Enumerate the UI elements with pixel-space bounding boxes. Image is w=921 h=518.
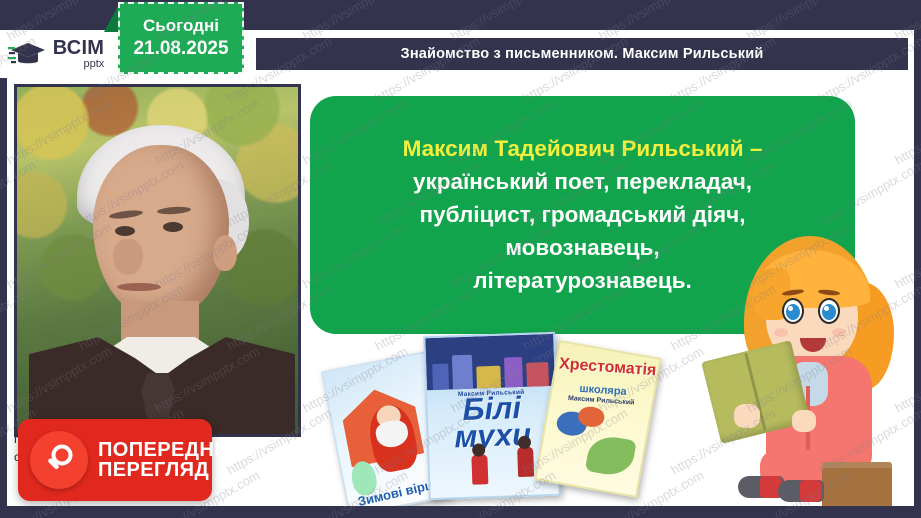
girl-cheek-right xyxy=(832,328,846,337)
slide-frame-right xyxy=(914,0,921,518)
today-label: Сьогодні xyxy=(143,16,219,36)
book-b-title: Білі мухи xyxy=(427,394,557,452)
site-logo[interactable]: ВСІМ pptx xyxy=(0,30,112,78)
description-line-2: український поет, перекладач, xyxy=(413,168,752,196)
preview-badge[interactable]: ПОПЕРЕДНІЙ ПЕРЕГЛЯД xyxy=(18,419,212,501)
book-covers-group: Зимові вірші Максим Рильський Білі мухи … xyxy=(330,332,660,518)
book-b-cityscape xyxy=(425,334,555,390)
logo-wordmark: ВСІМ pptx xyxy=(53,38,105,70)
today-date: 21.08.2025 xyxy=(133,38,228,60)
book-b-child-right xyxy=(517,447,534,478)
preview-badge-line-1: ПОПЕРЕДНІЙ xyxy=(98,440,235,460)
portrait-head xyxy=(93,145,229,317)
preview-badge-text: ПОПЕРЕДНІЙ ПЕРЕГЛЯД xyxy=(98,440,235,481)
slide-canvas: Максим Тадейович Рильський – український… xyxy=(0,0,921,518)
page-title: Знайомство з письменником. Максим Рильсь… xyxy=(401,46,764,62)
book-c-title: Хрестоматія xyxy=(559,357,656,378)
logo-sub-text: pptx xyxy=(53,59,105,70)
today-date-tag: Сьогодні 21.08.2025 xyxy=(118,2,244,74)
portrait-mouth xyxy=(117,283,161,291)
slide-title-bar: Знайомство з письменником. Максим Рильсь… xyxy=(256,38,908,70)
book-c-leaf xyxy=(585,433,637,478)
portrait-eye-left xyxy=(115,226,135,236)
girl-hand-left xyxy=(734,404,760,428)
graduation-cap-icon xyxy=(8,40,48,68)
girl-cheek-left xyxy=(774,328,788,337)
magnifier-icon xyxy=(30,431,88,489)
girl-shoe-right xyxy=(778,480,824,502)
girl-hand-right xyxy=(792,410,816,432)
description-line-5: літературознавець. xyxy=(473,267,692,295)
slide-frame-bottom xyxy=(0,506,921,518)
logo-main-text: ВСІМ xyxy=(53,38,105,58)
preview-badge-line-2: ПЕРЕГЛЯД xyxy=(98,460,235,480)
portrait-nose xyxy=(113,239,143,275)
book-b-child-left xyxy=(471,454,488,485)
girl-pupil-right xyxy=(822,304,836,320)
author-portrait-photo xyxy=(14,84,301,437)
description-line-3: публіцист, громадський діяч, xyxy=(420,201,746,229)
girl-pupil-left xyxy=(786,304,800,320)
girl-shoe-left xyxy=(738,476,784,498)
description-line-1: Максим Тадейович Рильський – xyxy=(403,135,763,163)
description-line-4: мовознавець, xyxy=(505,234,659,262)
portrait-ear xyxy=(213,235,237,271)
portrait-eye-right xyxy=(163,222,183,232)
reading-girl-illustration xyxy=(700,236,896,512)
